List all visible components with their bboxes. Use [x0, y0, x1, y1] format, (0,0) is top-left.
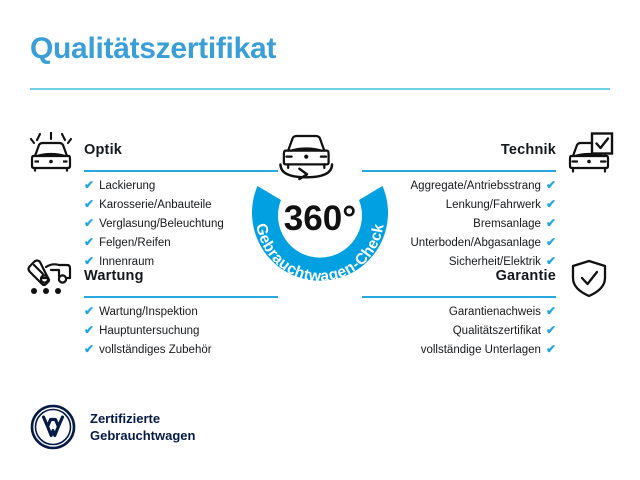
list-item-label: Aggregate/Antriebsstrang: [411, 180, 541, 192]
list-item: Garantienachweis✔: [382, 302, 556, 321]
car-front-shine-icon: [26, 132, 76, 174]
section-optik: Optik ✔Lackierung ✔Karosserie/Anbauteile…: [26, 132, 258, 271]
section-wartung: Wartung ✔Wartung/Inspektion ✔Hauptunters…: [26, 258, 258, 359]
list-item: ✔Wartung/Inspektion: [84, 302, 258, 321]
check-icon: ✔: [546, 197, 556, 211]
check-icon: ✔: [84, 304, 94, 318]
list-item: vollständige Unterlagen✔: [382, 340, 556, 359]
section-item-list: ✔Wartung/Inspektion ✔Hauptuntersuchung ✔…: [84, 302, 258, 359]
car-front-checkbox-icon: [564, 132, 614, 174]
badge-center-label: 360°: [284, 199, 356, 238]
check-icon: ✔: [84, 342, 94, 356]
shield-check-icon: [564, 258, 614, 300]
section-item-list: Garantienachweis✔ Qualitätszertifikat✔ v…: [382, 302, 556, 359]
check-icon: ✔: [84, 323, 94, 337]
list-item-label: Lenkung/Fahrwerk: [446, 199, 541, 211]
list-item: ✔vollständiges Zubehör: [84, 340, 258, 359]
wrench-car-service-icon: [26, 258, 76, 300]
list-item-label: Karosserie/Anbauteile: [99, 199, 212, 211]
check-icon: ✔: [546, 342, 556, 356]
list-item-label: Felgen/Reifen: [99, 237, 171, 249]
check-icon: ✔: [546, 216, 556, 230]
list-item-label: Hauptuntersuchung: [99, 325, 199, 337]
list-item-label: vollständige Unterlagen: [421, 344, 541, 356]
section-title: Technik: [501, 142, 556, 158]
header-divider: [30, 88, 610, 90]
section-header: Technik: [382, 132, 614, 176]
section-garantie: Garantie Garantienachweis✔ Qualitätszert…: [382, 258, 614, 359]
list-item: ✔Hauptuntersuchung: [84, 321, 258, 340]
list-item-label: Unterboden/Abgasanlage: [411, 237, 541, 249]
list-item-label: Lackierung: [99, 180, 155, 192]
section-header: Optik: [26, 132, 258, 176]
badge-360-gebrauchtwagen-check: Gebrauchtwagen-Check 360°: [231, 122, 409, 300]
check-icon: ✔: [84, 216, 94, 230]
list-item-label: Qualitätszertifikat: [453, 325, 541, 337]
list-item-label: Garantienachweis: [449, 306, 541, 318]
check-icon: ✔: [84, 178, 94, 192]
list-item-label: Wartung/Inspektion: [99, 306, 198, 318]
list-item: Qualitätszertifikat✔: [382, 321, 556, 340]
footer-line-2: Gebrauchtwagen: [90, 428, 195, 443]
check-icon: ✔: [84, 235, 94, 249]
section-technik: Technik Aggregate/Antriebsstrang✔ Lenkun…: [382, 132, 614, 271]
check-icon: ✔: [84, 197, 94, 211]
section-title: Garantie: [496, 268, 556, 284]
vw-logo-icon: [30, 404, 76, 450]
check-icon: ✔: [546, 235, 556, 249]
list-item-label: vollständiges Zubehör: [99, 344, 212, 356]
check-icon: ✔: [546, 304, 556, 318]
check-icon: ✔: [546, 178, 556, 192]
section-header: Garantie: [382, 258, 614, 302]
page-title: Qualitätszertifikat: [30, 32, 276, 66]
section-title: Wartung: [84, 268, 144, 284]
footer-line-1: Zertifizierte: [90, 411, 160, 426]
section-title: Optik: [84, 142, 122, 158]
section-header: Wartung: [26, 258, 258, 302]
car-rotate-360-icon: [280, 136, 332, 179]
footer-text: Zertifizierte Gebrauchtwagen: [90, 410, 195, 444]
footer-brand: Zertifizierte Gebrauchtwagen: [30, 404, 195, 450]
list-item-label: Bremsanlage: [473, 218, 541, 230]
list-item-label: Verglasung/Beleuchtung: [99, 218, 224, 230]
check-icon: ✔: [546, 323, 556, 337]
